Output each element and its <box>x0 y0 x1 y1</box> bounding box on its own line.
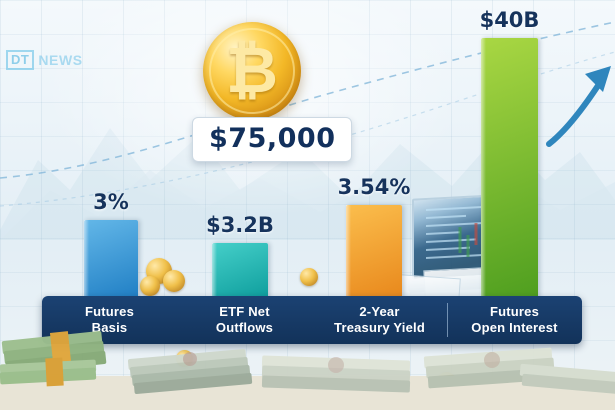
bar-column: $40B <box>481 38 538 300</box>
cash-stacks-graphic <box>0 318 615 410</box>
bar-value-label: 3.54% <box>338 175 411 199</box>
bar-1 <box>84 220 138 300</box>
bar-value-label: 3% <box>93 190 129 214</box>
bar-value-label: $3.2B <box>206 213 274 237</box>
bar-column: $3.2B <box>212 243 268 300</box>
infographic-canvas: DT NEWS ₿ $75,000 3%$3.2B3.54%$40B Futur… <box>0 0 615 410</box>
bar-3 <box>346 205 402 300</box>
bar-column: 3.54% <box>346 205 402 300</box>
bitcoin-symbol: ₿ <box>226 39 278 103</box>
bar-2 <box>212 243 268 300</box>
bar-column: 3% <box>84 220 138 300</box>
bar-4 <box>481 38 538 300</box>
bar-value-label: $40B <box>480 8 540 32</box>
